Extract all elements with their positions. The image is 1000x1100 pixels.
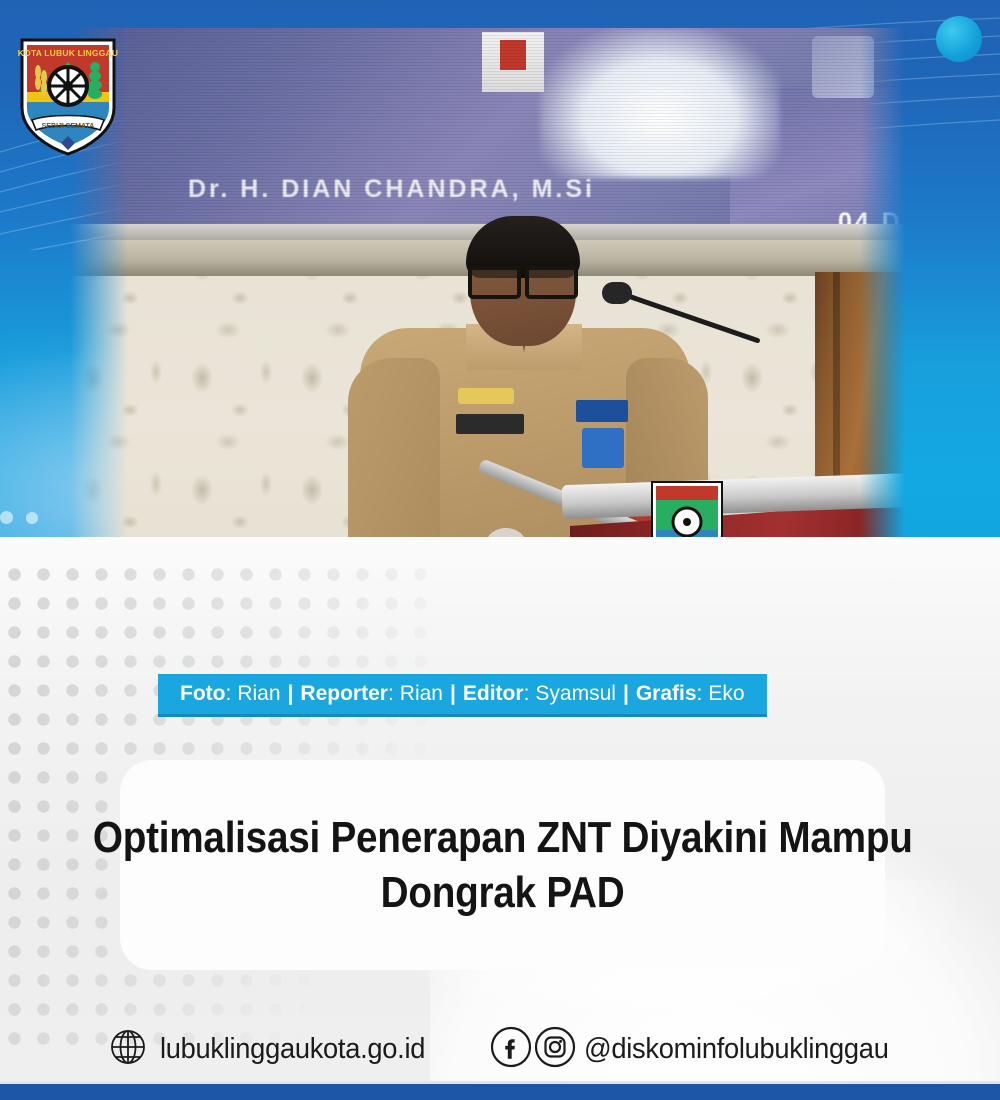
credit-label-foto: Foto: bbox=[180, 682, 231, 706]
credit-value-foto: Rian bbox=[237, 682, 280, 706]
globe-icon bbox=[108, 1027, 148, 1072]
uniform-id-card bbox=[582, 428, 624, 468]
footer: lubuklinggaukota.go.id @diskominfolubukl… bbox=[108, 1022, 908, 1076]
social-item: @diskominfolubuklinggau bbox=[490, 1026, 908, 1073]
uniform-insignia bbox=[458, 388, 514, 404]
credit-separator: | bbox=[443, 682, 463, 706]
uniform-badge bbox=[576, 400, 628, 422]
microphone-icon bbox=[602, 282, 632, 304]
credit-value-grafis: Eko bbox=[708, 682, 744, 706]
website-item: lubuklinggaukota.go.id bbox=[108, 1027, 442, 1072]
uniform-nametag bbox=[456, 414, 524, 434]
decorative-circle-icon bbox=[936, 16, 982, 62]
instagram-icon[interactable] bbox=[534, 1026, 576, 1073]
decorative-dot bbox=[26, 512, 38, 524]
city-logo: KOTA LUBUK LINGGAU SEBIJI SEMATA bbox=[16, 36, 120, 158]
credit-label-reporter: Reporter: bbox=[300, 682, 393, 706]
social-media-poster: Dr. H. DIAN CHANDRA, M.Si KEPALA BAPPEDA… bbox=[0, 0, 1000, 1100]
photo-credits-bar: Foto: Rian | Reporter: Rian | Editor: Sy… bbox=[158, 674, 767, 717]
speaker-glasses bbox=[466, 266, 580, 292]
credit-separator: | bbox=[281, 682, 301, 706]
credit-separator: | bbox=[616, 682, 636, 706]
headline-text: Optimalisasi Penerapan ZNT Diyakini Mamp… bbox=[120, 760, 885, 970]
decorative-dot bbox=[0, 511, 13, 524]
svg-text:SEBIJI SEMATA: SEBIJI SEMATA bbox=[42, 123, 95, 130]
social-handle[interactable]: @diskominfolubuklinggau bbox=[584, 1033, 889, 1066]
credit-value-reporter: Rian bbox=[400, 682, 443, 706]
website-url[interactable]: lubuklinggaukota.go.id bbox=[160, 1033, 425, 1066]
svg-text:KOTA LUBUK LINGGAU: KOTA LUBUK LINGGAU bbox=[18, 48, 118, 58]
credit-label-grafis: Grafis: bbox=[636, 682, 703, 706]
led-screen-scanlines bbox=[70, 28, 905, 240]
headline-line-2: Dongrak PAD bbox=[381, 865, 625, 920]
headline-line-1: Optimalisasi Penerapan ZNT Diyakini Mamp… bbox=[93, 810, 913, 865]
facebook-icon[interactable] bbox=[490, 1026, 532, 1073]
credit-label-editor: Editor: bbox=[463, 682, 530, 706]
credit-value-editor: Syamsul bbox=[535, 682, 616, 706]
bottom-blue-bar bbox=[0, 1084, 1000, 1100]
headline-card: Optimalisasi Penerapan ZNT Diyakini Mamp… bbox=[120, 760, 885, 970]
